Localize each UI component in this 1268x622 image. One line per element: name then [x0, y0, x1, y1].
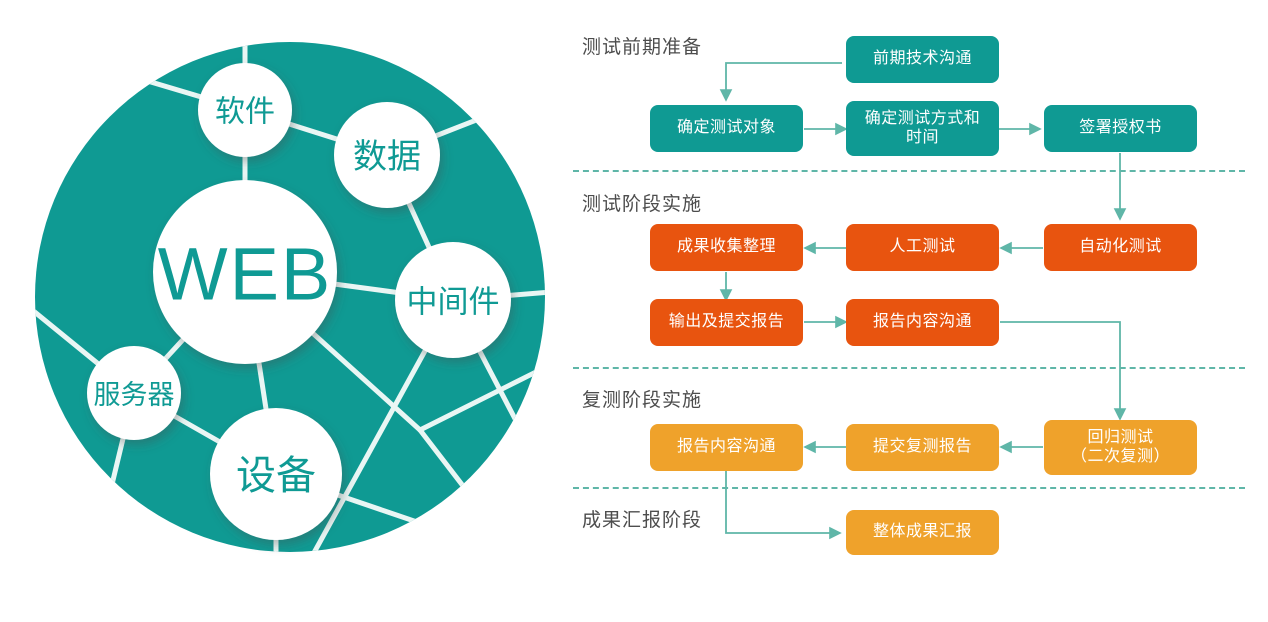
flow-node-determine-test-method-and-time[interactable]: 确定测试方式和 时间 [846, 101, 999, 156]
diagram-canvas: 软件 数据 中间件 服务器 设备 WEB [0, 0, 1268, 622]
flow-node-line-2: （二次复测） [1071, 448, 1170, 465]
web-network-bubble-diagram: 软件 数据 中间件 服务器 设备 WEB [0, 0, 570, 622]
stage-label-testing: 测试阶段实施 [582, 189, 702, 216]
flow-node-report-content-communication-retest[interactable]: 报告内容沟通 [650, 424, 803, 471]
flow-node-collect-results[interactable]: 成果收集整理 [650, 224, 803, 271]
flow-node-output-and-submit-report[interactable]: 输出及提交报告 [650, 299, 803, 346]
bubble-label-zhongjianjian: 中间件 [407, 285, 500, 320]
stage-divider-3 [573, 487, 1245, 489]
flow-node-automated-testing[interactable]: 自动化测试 [1044, 224, 1197, 271]
bubble-diagram-svg: 软件 数据 中间件 服务器 设备 WEB [0, 0, 570, 622]
flow-node-manual-testing[interactable]: 人工测试 [846, 224, 999, 271]
flow-node-line-2: 时间 [906, 129, 939, 146]
stage-label-retest: 复测阶段实施 [582, 385, 702, 412]
bubble-label-ruanjian: 软件 [215, 96, 275, 129]
stage-divider-1 [573, 170, 1245, 172]
stage-label-report: 成果汇报阶段 [582, 505, 702, 532]
bubble-label-shuju: 数据 [353, 138, 421, 176]
flow-node-determine-test-target[interactable]: 确定测试对象 [650, 105, 803, 152]
flow-node-line-1: 回归测试 [1087, 429, 1153, 446]
flow-node-sign-authorization[interactable]: 签署授权书 [1044, 105, 1197, 152]
stage-label-prep: 测试前期准备 [582, 32, 702, 59]
flow-node-preliminary-tech-communication[interactable]: 前期技术沟通 [846, 36, 999, 83]
stage-divider-2 [573, 367, 1245, 369]
flow-node-submit-retest-report[interactable]: 提交复测报告 [846, 424, 999, 471]
flow-node-line-1: 确定测试方式和 [865, 110, 981, 127]
bubble-label-fuwuqi: 服务器 [94, 380, 175, 410]
bubble-label-shebei: 设备 [236, 454, 316, 498]
flow-node-report-content-communication-testing[interactable]: 报告内容沟通 [846, 299, 999, 346]
bubble-label-web: WEB [158, 233, 333, 316]
testing-process-flowchart: 测试前期准备 测试阶段实施 复测阶段实施 成果汇报阶段 前期技术沟通 确定测试对… [570, 0, 1268, 622]
flow-node-regression-testing[interactable]: 回归测试 （二次复测） [1044, 420, 1197, 475]
flow-node-overall-results-report[interactable]: 整体成果汇报 [846, 510, 999, 555]
